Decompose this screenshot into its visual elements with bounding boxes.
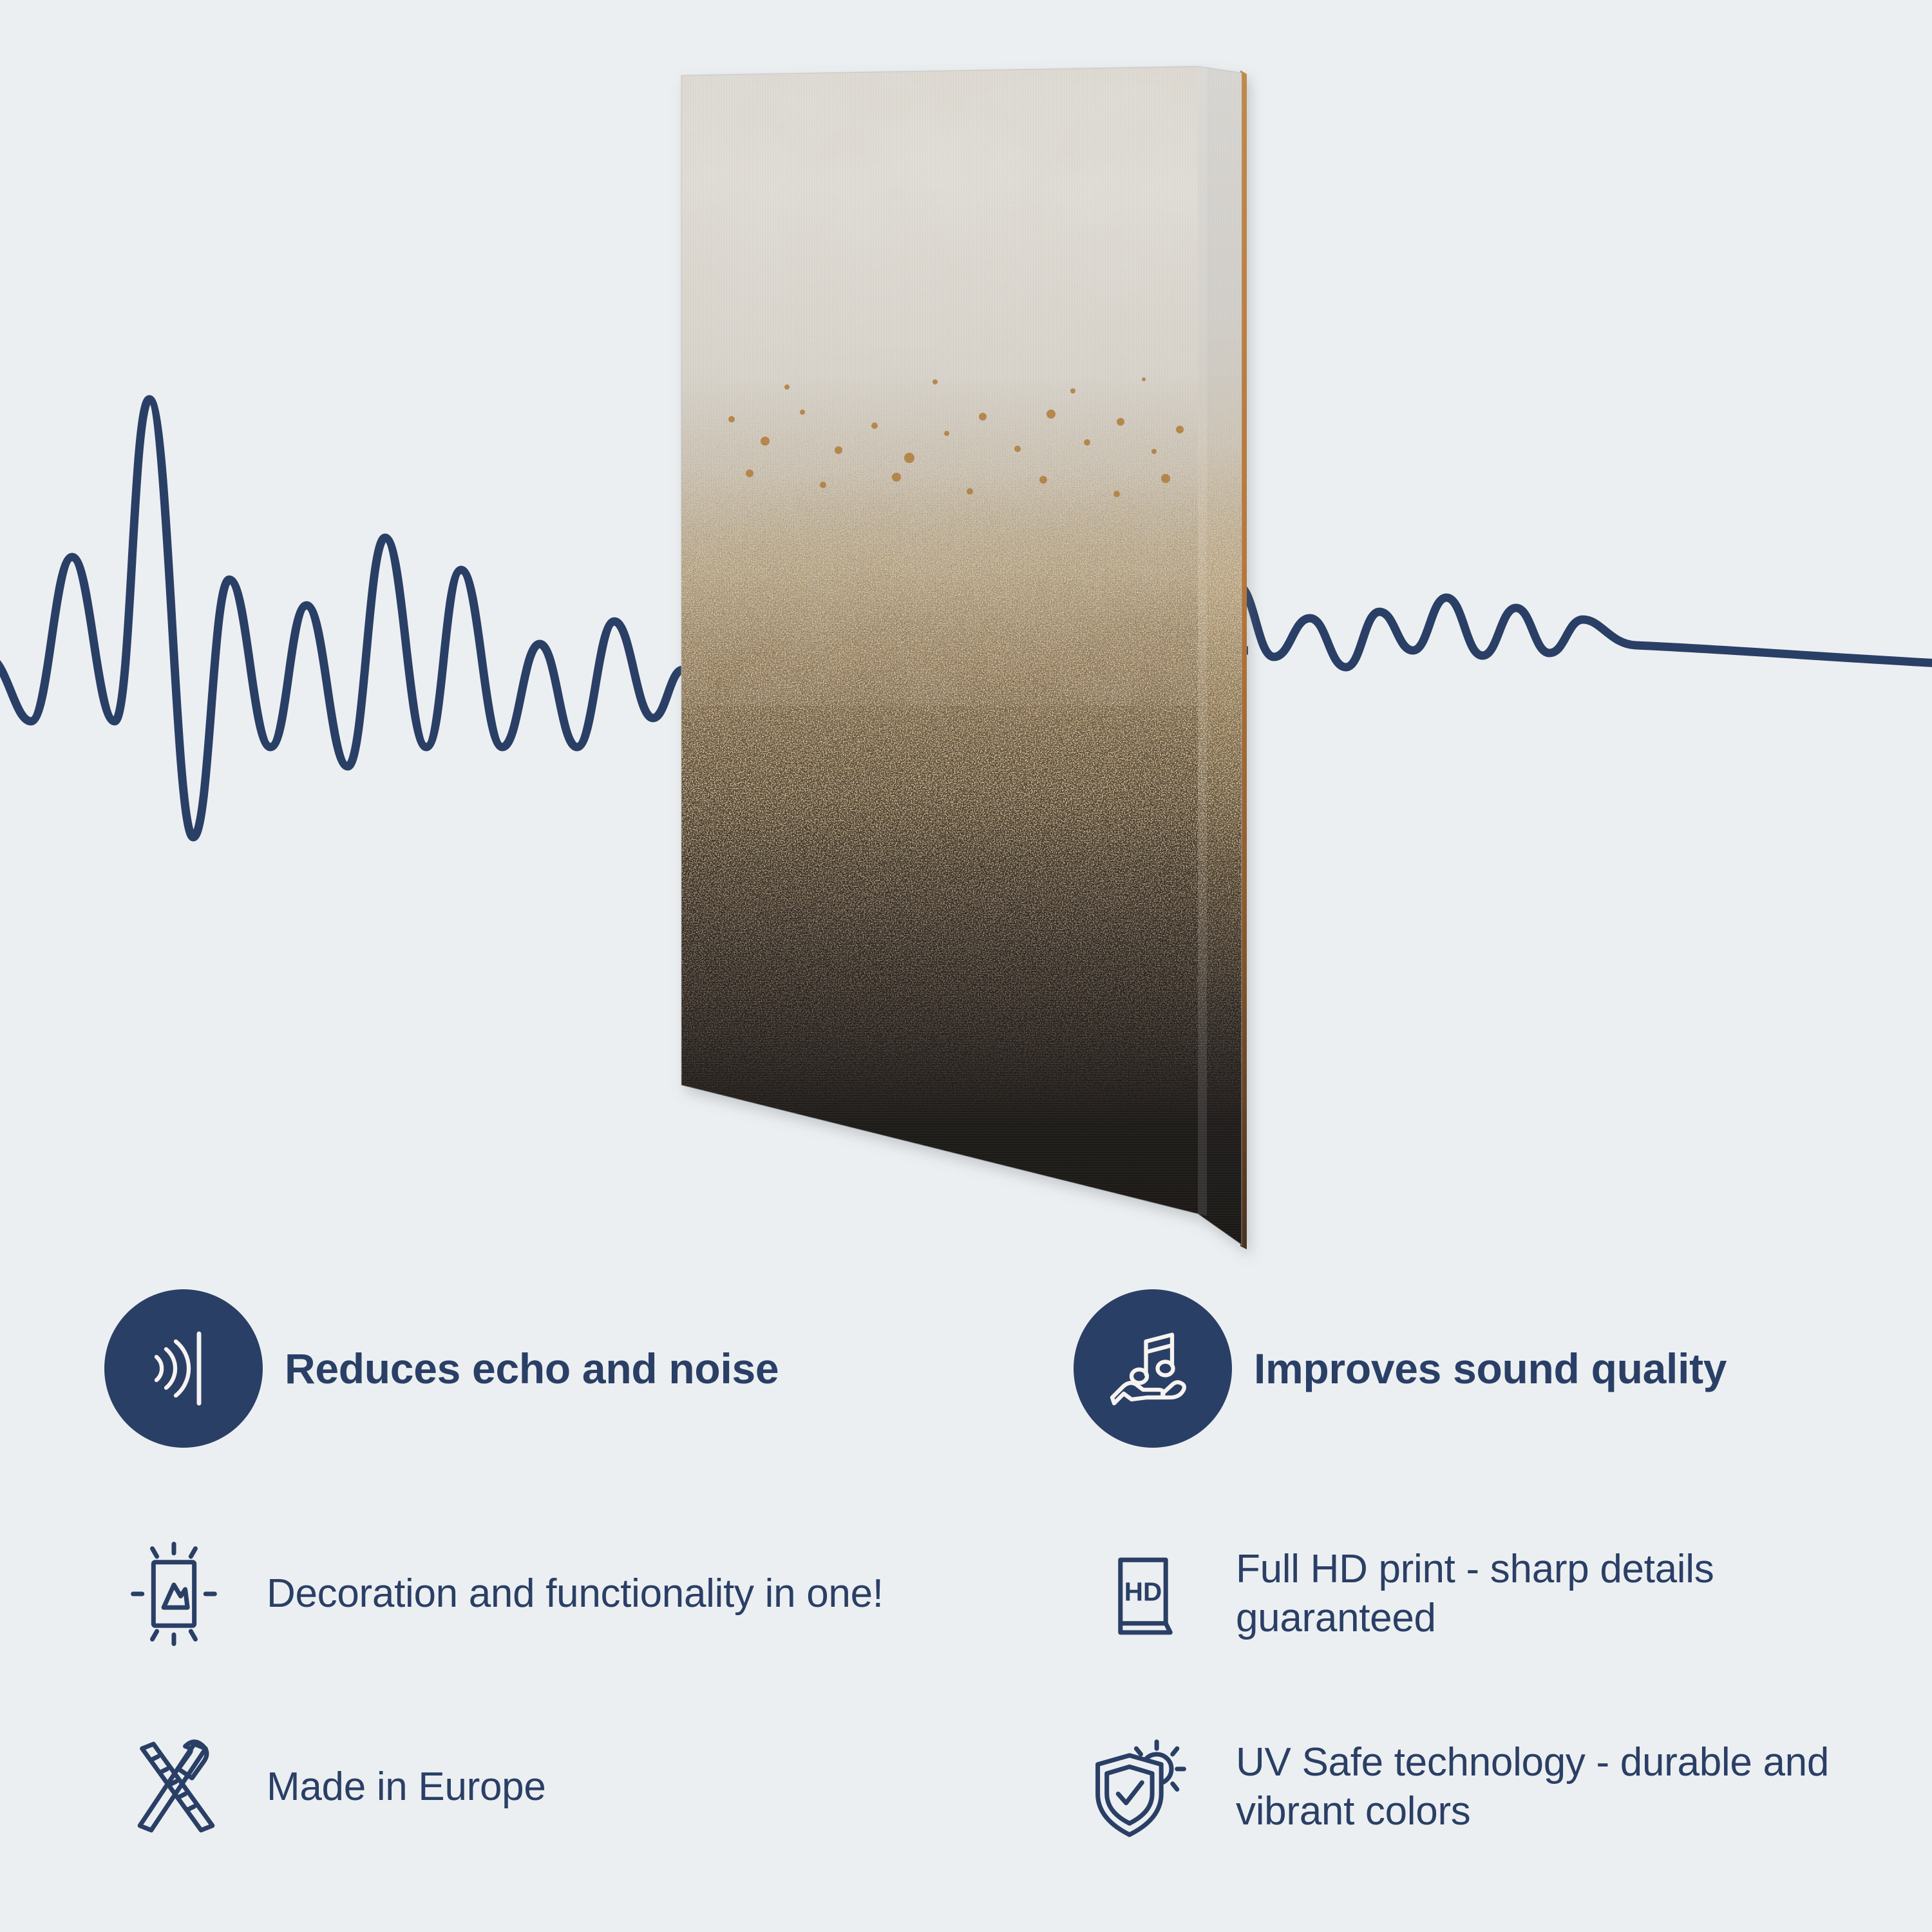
hd-print-icon: HD bbox=[1066, 1529, 1220, 1658]
hd-badge-text: HD bbox=[1124, 1577, 1162, 1607]
infographic-stage: Reduces echo and noise bbox=[0, 0, 1932, 1932]
feature-decoration-functionality[interactable]: Decoration and functionality in one! bbox=[97, 1497, 1066, 1690]
uv-shield-sun-icon bbox=[1066, 1723, 1220, 1851]
feature-hd-print[interactable]: HD Full HD print - sharp details guarant… bbox=[1066, 1497, 1848, 1690]
canvas-artwork-svg bbox=[670, 61, 1269, 1272]
feature-label: Full HD print - sharp details guaranteed bbox=[1220, 1545, 1848, 1642]
waveform-right-segment bbox=[1236, 585, 1932, 667]
feature-label: Reduces echo and noise bbox=[270, 1343, 779, 1395]
framed-picture-shine-icon bbox=[97, 1529, 251, 1658]
feature-label: UV Safe technology - durable and vibrant… bbox=[1220, 1738, 1848, 1835]
canvas-side-edge bbox=[1191, 61, 1249, 1272]
feature-label: Decoration and functionality in one! bbox=[251, 1569, 884, 1618]
canvas-face bbox=[670, 61, 1269, 1272]
waveform-left-segment bbox=[0, 399, 683, 837]
sound-waves-panel-icon bbox=[97, 1282, 270, 1455]
feature-list: Reduces echo and noise bbox=[97, 1240, 1848, 1884]
feature-made-in-europe[interactable]: Made in Europe bbox=[97, 1690, 1066, 1884]
feature-label: Made in Europe bbox=[251, 1763, 546, 1812]
canvas-artwork bbox=[670, 61, 1269, 1272]
ruler-hammer-icon bbox=[97, 1723, 251, 1851]
feature-improves-sound[interactable]: Improves sound quality bbox=[1066, 1240, 1848, 1497]
canvas-body bbox=[670, 61, 1269, 1272]
music-note-in-hand-icon bbox=[1066, 1282, 1240, 1455]
feature-reduces-echo[interactable]: Reduces echo and noise bbox=[97, 1240, 1066, 1497]
feature-label: Improves sound quality bbox=[1240, 1343, 1727, 1395]
feature-uv-safe[interactable]: UV Safe technology - durable and vibrant… bbox=[1066, 1690, 1848, 1884]
